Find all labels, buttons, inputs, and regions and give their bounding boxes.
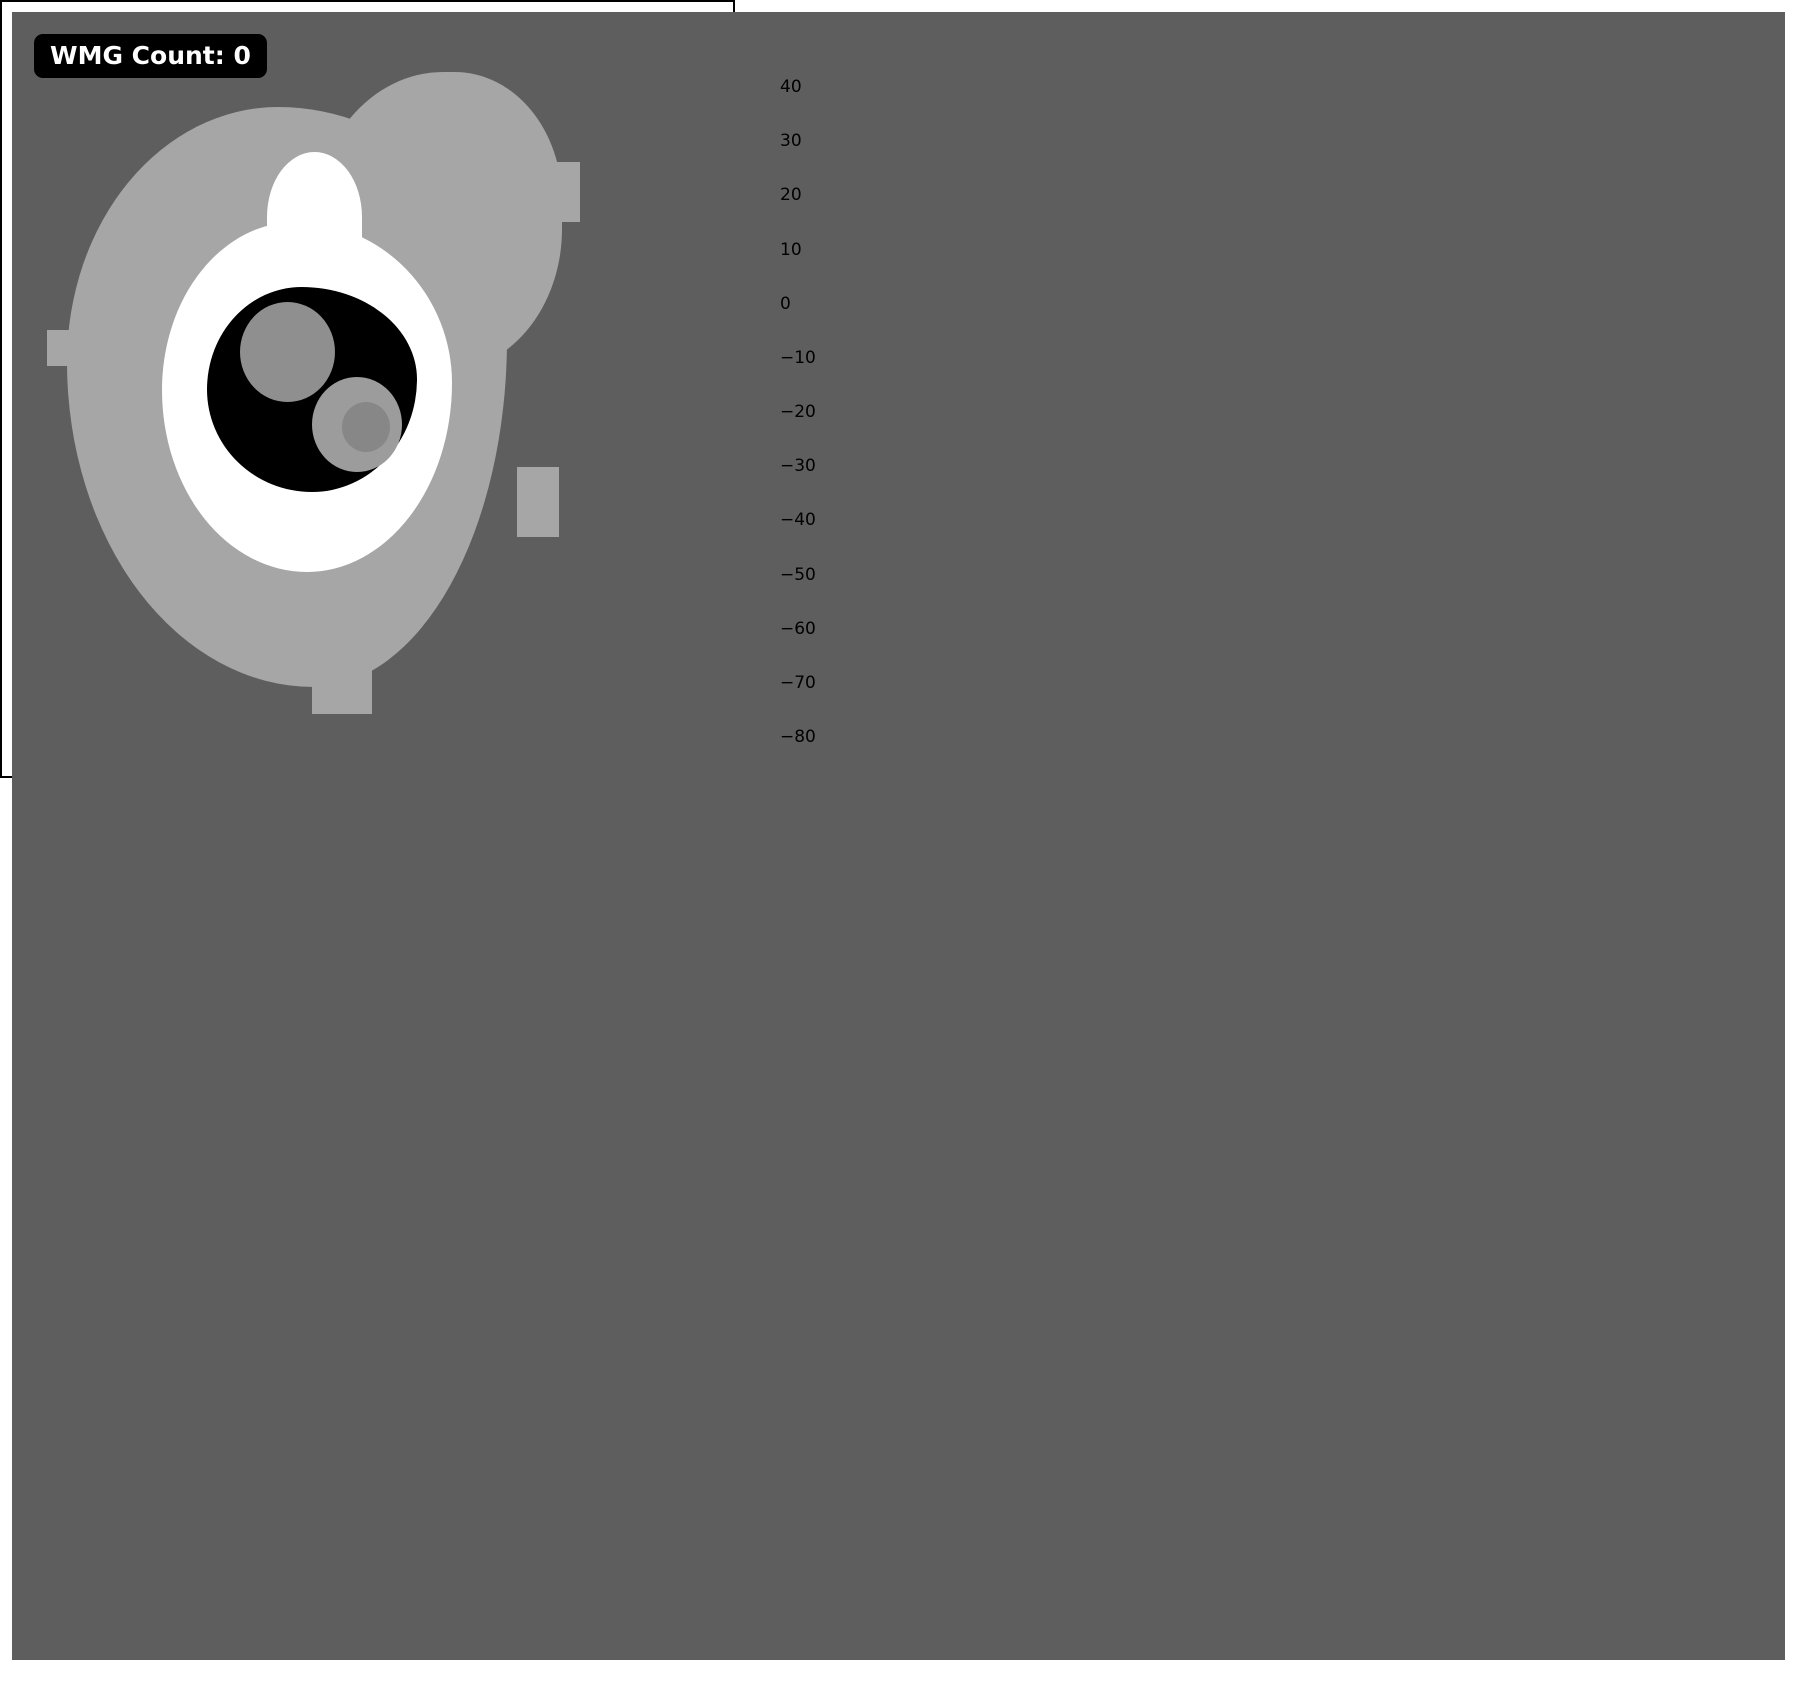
wmg-gray-tab-right <box>532 162 580 222</box>
colorbar1-tick-30: 30 <box>780 131 802 151</box>
wmg-gray-spot-left <box>47 330 83 366</box>
colorbar1-tick-0: 0 <box>780 294 791 314</box>
colorbar1-tick-10: 10 <box>780 240 802 260</box>
colorbar1-tick-20: 20 <box>780 185 802 205</box>
wmg-gray-tab-right2 <box>517 467 559 537</box>
wmg-panel[interactable]: WMG Count: 0 <box>0 0 735 778</box>
colorbar1-tick-m20: −20 <box>780 402 816 422</box>
colorbar1-tick-m70: −70 <box>780 673 816 693</box>
wmg-count-badge: WMG Count: 0 <box>34 34 267 78</box>
colorbar1-tick-m60: −60 <box>780 619 816 639</box>
colorbar1-tick-m80: −80 <box>780 727 816 747</box>
wmg-gray-tab-bottom <box>312 662 372 714</box>
wmg-white-arm <box>267 152 362 282</box>
colorbar1-tick-m50: −50 <box>780 565 816 585</box>
wmg-eye-gray-3 <box>342 402 390 452</box>
wmg-eye-gray <box>240 302 335 402</box>
colorbar1-tick-m10: −10 <box>780 348 816 368</box>
colorbar1-tick-40: 40 <box>780 77 802 97</box>
colorbar1-tick-m30: −30 <box>780 456 816 476</box>
wmg-field: WMG Count: 0 <box>12 12 1785 1660</box>
colorbar1-tick-m40: −40 <box>780 510 816 530</box>
